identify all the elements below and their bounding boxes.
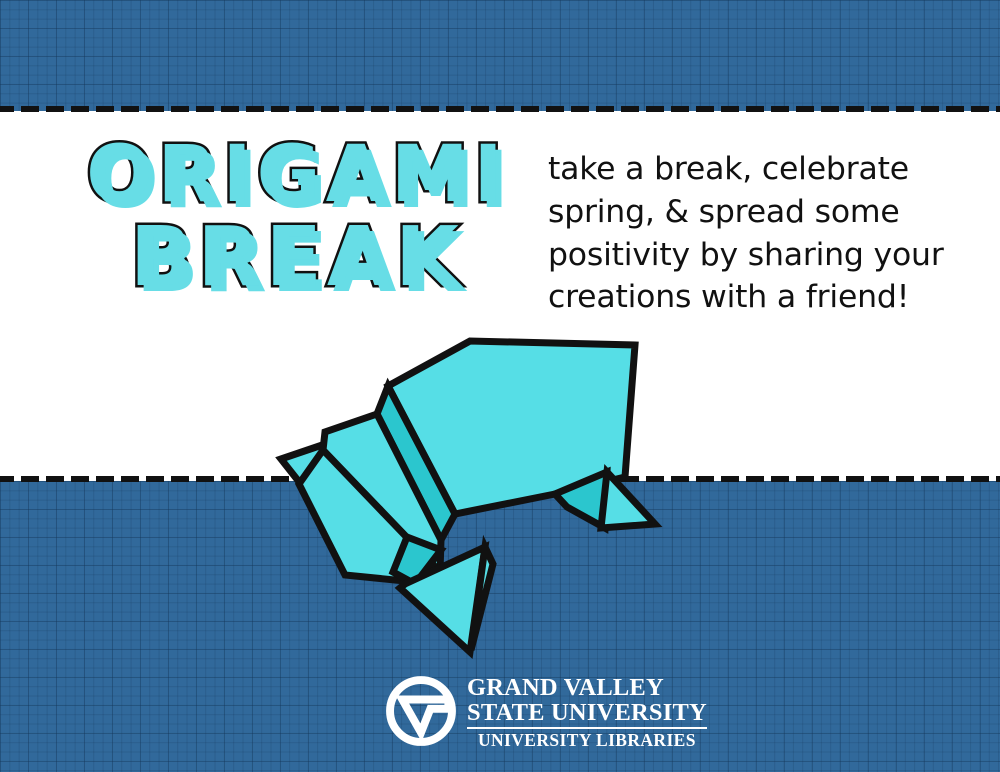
- title-line-origami: ORIGAMI: [62, 138, 532, 214]
- gvsu-logo-line-1: GRAND VALLEY: [467, 675, 707, 700]
- dashed-divider-top: [0, 106, 1000, 112]
- gvsu-logo-line-3: UNIVERSITY LIBRARIES: [467, 731, 707, 749]
- gvsu-logo-line-2: STATE UNIVERSITY: [467, 700, 707, 725]
- gvsu-logo: GRAND VALLEY STATE UNIVERSITY UNIVERSITY…: [385, 668, 625, 754]
- gvsu-logo-rule: [467, 727, 707, 729]
- origami-frog-illustration: [255, 332, 685, 662]
- page-title: ORIGAMI BREAK: [62, 138, 532, 297]
- gvsu-logo-wordmark: GRAND VALLEY STATE UNIVERSITY UNIVERSITY…: [467, 673, 707, 750]
- title-line-break: BREAK: [62, 218, 532, 298]
- gvsu-laurel-icon: [385, 675, 457, 747]
- origami-facet-right-foot-tip: [601, 472, 655, 528]
- body-text: take a break, celebrate spring, & spread…: [548, 148, 968, 319]
- poster: ORIGAMI BREAK take a break, celebrate sp…: [0, 0, 1000, 772]
- grid-background-top: [0, 0, 1000, 111]
